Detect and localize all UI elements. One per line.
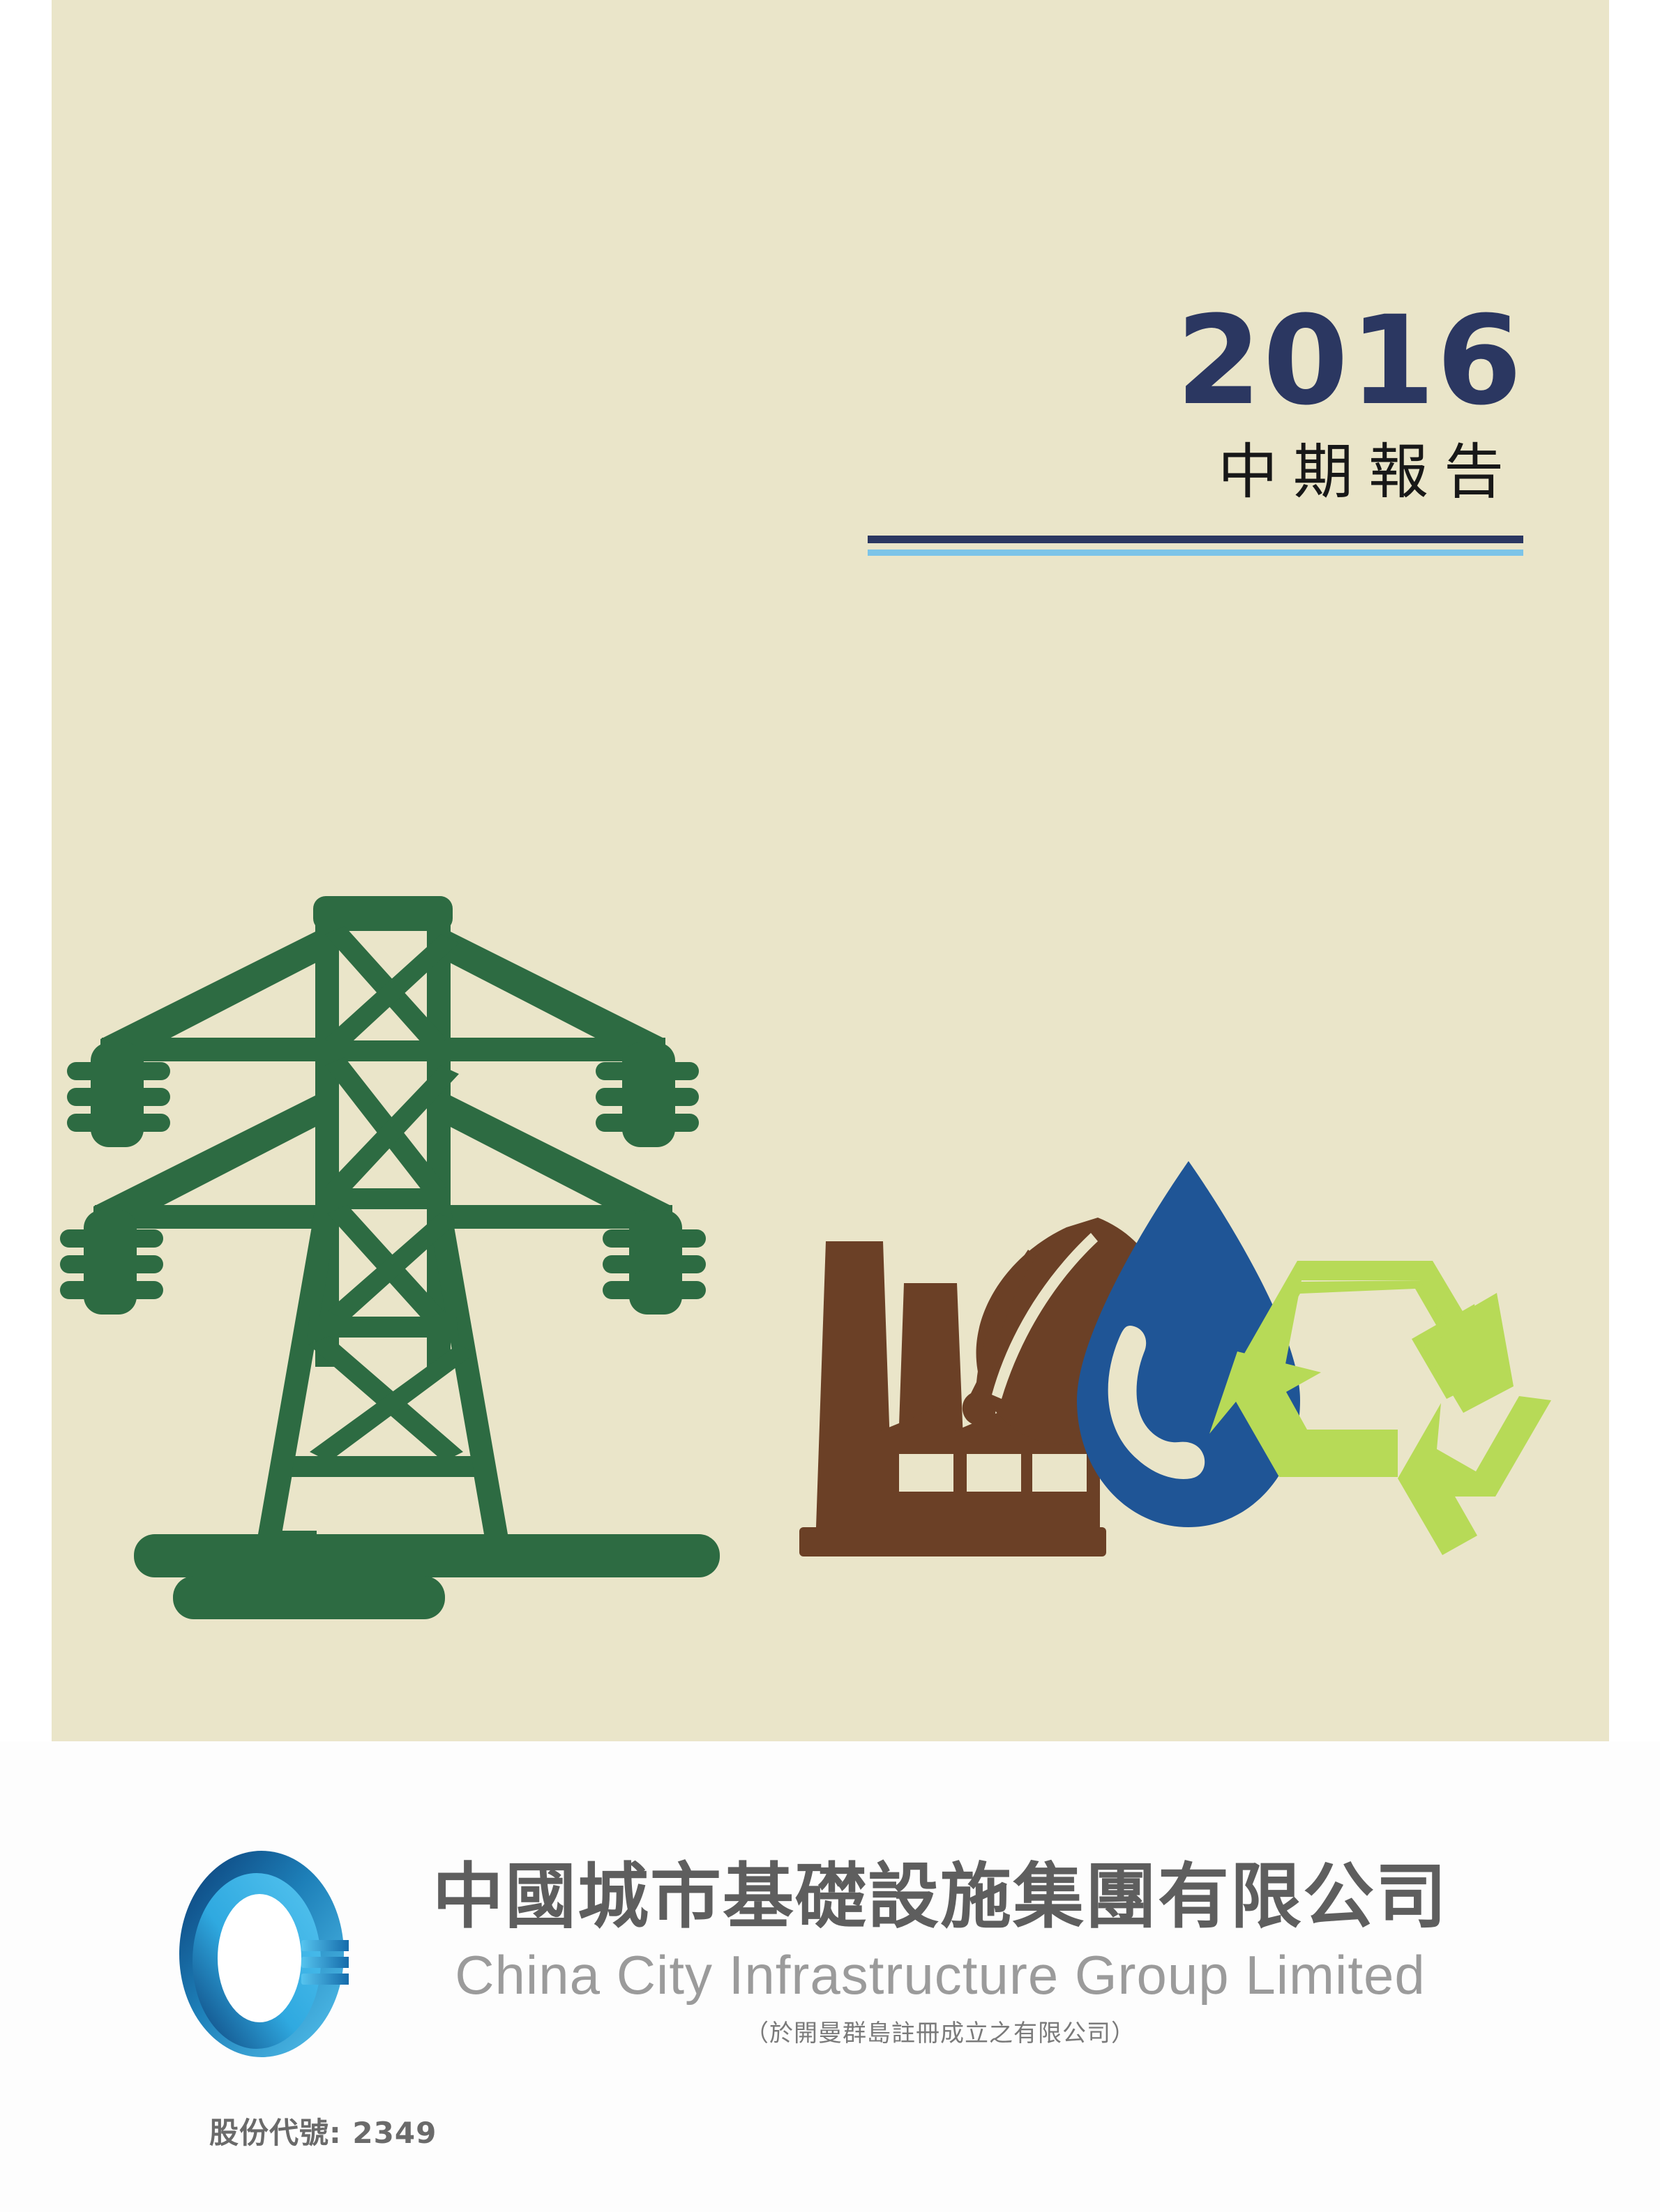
incorporation-note: （於開曼群島註冊成立之有限公司） [432, 2018, 1448, 2049]
stock-code-label: 股份代號: 2349 [209, 2109, 437, 2152]
company-name-block: 中國城市基礎設施集團有限公司 China City Infrastructure… [432, 1842, 1448, 2049]
cover-title-block: 2016 中期報告 [868, 300, 1523, 556]
title-rule-navy [868, 536, 1523, 543]
report-year: 2016 [868, 300, 1523, 423]
title-rule-light-blue [868, 550, 1523, 556]
cover-footer: 中國城市基礎設施集團有限公司 China City Infrastructure… [0, 1741, 1660, 2212]
cover-illustration [52, 865, 1609, 1722]
title-rule-group [868, 536, 1523, 556]
title-rule-gap [868, 543, 1523, 550]
company-name-chinese: 中國城市基礎設施集團有限公司 [432, 1858, 1448, 1937]
power-transmission-tower-icon [60, 896, 720, 1619]
report-type-title: 中期報告 [868, 435, 1523, 510]
footer-identity-row: 中國城市基礎設施集團有限公司 China City Infrastructure… [174, 1842, 1448, 2064]
company-name-english: China City Infrastructure Group Limited [432, 1943, 1448, 2007]
company-logo-c-mark-icon [174, 1848, 349, 2064]
